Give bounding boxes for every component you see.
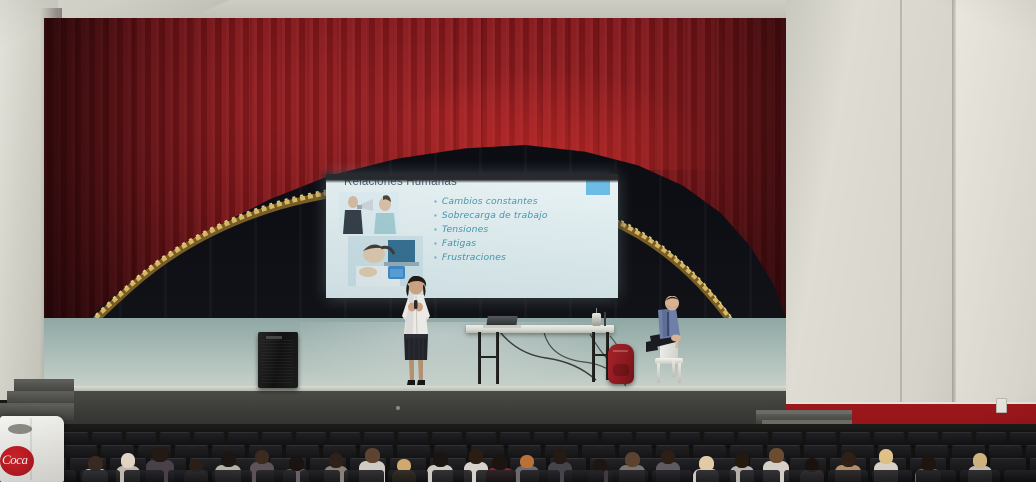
loudspeaker-badge <box>266 336 282 339</box>
seat-highlight <box>126 432 156 433</box>
seat-highlight <box>1026 445 1036 446</box>
theater-seat-front-row <box>124 470 164 482</box>
bullet-marker-icon: ▪ <box>434 196 437 208</box>
slide-bullet-list: ▪Cambios constantes▪Sobrecarga de trabaj… <box>434 196 609 266</box>
seat-highlight <box>398 432 428 433</box>
seat-highlight <box>160 432 190 433</box>
seat-highlight <box>568 432 598 433</box>
seat-highlight <box>874 432 904 433</box>
table-leg-front-left <box>478 332 481 384</box>
seat-highlight <box>360 445 393 446</box>
seat-highlight <box>582 445 615 446</box>
table-brace-left <box>478 356 498 358</box>
theater-seat-front-row <box>1004 470 1036 482</box>
theater-seat-front-row <box>80 470 120 482</box>
seat-highlight <box>286 445 319 446</box>
female-presenter <box>396 276 436 388</box>
seat-highlight <box>636 432 666 433</box>
audience-member-head <box>520 455 534 469</box>
seat-highlight <box>545 445 578 446</box>
seat-highlight <box>841 445 874 446</box>
bullet-marker-icon: ▪ <box>434 210 437 222</box>
microphone-stand <box>604 312 606 326</box>
theater-seat-front-row <box>828 470 868 482</box>
seat-highlight <box>249 445 282 446</box>
seated-man-with-mask <box>646 296 694 366</box>
backpack-strap <box>613 350 628 352</box>
audience-member-head <box>921 456 936 471</box>
table-leg-back-left <box>496 332 499 384</box>
audience-member-head <box>221 452 236 467</box>
bullet-text: Frustraciones <box>442 252 506 263</box>
audience-member-head <box>152 447 168 463</box>
theater-seat-front-row <box>784 470 824 482</box>
theater-seat-front-row <box>608 470 648 482</box>
audience-member-head <box>625 452 640 467</box>
audience-member-head <box>973 453 987 467</box>
bullet-text: Fatigas <box>442 238 476 249</box>
seat-highlight <box>704 432 734 433</box>
seat-highlight <box>806 432 836 433</box>
plastic-bag-handle <box>8 424 32 434</box>
theater-seat-front-row <box>476 470 516 482</box>
slide-bullet-item: ▪Cambios constantes <box>434 196 609 208</box>
seat-highlight <box>432 432 462 433</box>
seat-highlight <box>500 432 530 433</box>
audience-member-head <box>769 448 784 463</box>
theater-seat-front-row <box>872 470 912 482</box>
audience-member-head <box>329 453 343 467</box>
seat-highlight <box>772 432 802 433</box>
audience-member-head <box>433 452 448 467</box>
audience-member-head <box>469 449 483 463</box>
seat-highlight <box>990 458 1026 459</box>
theater-seat-front-row <box>256 470 296 482</box>
audience-member-head <box>735 453 749 467</box>
seat-highlight <box>466 432 496 433</box>
slide-bullet-item: ▪Fatigas <box>434 238 609 250</box>
audience-member-head <box>365 448 380 463</box>
theater-seat-front-row <box>520 470 560 482</box>
laptop-base <box>483 325 521 328</box>
seat-highlight <box>434 445 467 446</box>
seat-highlight <box>397 445 430 446</box>
audience-member-head <box>553 449 567 463</box>
loudspeaker-grill <box>262 340 293 384</box>
seat-highlight <box>915 445 948 446</box>
slide-photo-megaphone <box>339 192 399 234</box>
theater-seat-front-row <box>740 470 780 482</box>
slide-bullet-item: ▪Sobrecarga de trabajo <box>434 210 609 222</box>
desk-device <box>592 313 601 326</box>
theater-seat-front-row <box>300 470 340 482</box>
seat-highlight <box>262 432 292 433</box>
seat-highlight <box>989 445 1022 446</box>
bullet-marker-icon: ▪ <box>434 238 437 250</box>
chair-leg-front-left <box>657 363 660 383</box>
seat-highlight <box>175 445 208 446</box>
chair-leg-front-right <box>678 363 681 383</box>
seat-highlight <box>390 458 426 459</box>
theater-seat-front-row <box>212 470 252 482</box>
audience-member-head <box>255 450 269 464</box>
theater-seat-front-row <box>652 470 692 482</box>
theater-seat-front-row <box>916 470 956 482</box>
seat-highlight <box>693 445 726 446</box>
seat-highlight <box>804 445 837 446</box>
seat-highlight <box>212 445 245 446</box>
seat-highlight <box>738 432 768 433</box>
theater-seat-front-row <box>960 470 1000 482</box>
seat-highlight <box>602 432 632 433</box>
seat-highlight <box>64 445 97 446</box>
seat-highlight <box>908 432 938 433</box>
audience-member-head <box>879 449 893 463</box>
seat-highlight <box>670 432 700 433</box>
audience-member-head <box>492 455 508 471</box>
right-wall-seam-secondary <box>900 0 902 440</box>
stage-floor-marker <box>396 406 400 410</box>
seat-highlight <box>364 432 394 433</box>
seat-highlight <box>878 445 911 446</box>
seat-highlight <box>138 445 171 446</box>
theater-seat-front-row <box>696 470 736 482</box>
audience-member-head <box>289 456 304 471</box>
slide-bullet-item: ▪Frustraciones <box>434 252 609 264</box>
seat-highlight <box>619 445 652 446</box>
audience-member-head <box>121 453 135 467</box>
slide-bullet-item: ▪Tensiones <box>434 224 609 236</box>
bullet-marker-icon: ▪ <box>434 224 437 236</box>
wall-outlet <box>996 398 1007 413</box>
theater-seat-front-row <box>168 470 208 482</box>
seat-highlight <box>228 432 258 433</box>
seat-highlight <box>534 432 564 433</box>
seat-highlight <box>508 445 541 446</box>
seat-highlight <box>296 432 326 433</box>
seat-highlight <box>330 432 360 433</box>
seat-highlight <box>730 445 763 446</box>
audience-member-head <box>661 450 675 464</box>
theater-presentation-scene: Relaciones Humanas <box>0 0 1036 482</box>
table-brace-right <box>592 354 608 356</box>
audience-member-head <box>841 452 856 467</box>
theater-seat-front-row <box>564 470 604 482</box>
slide-title-occlusion <box>326 174 618 183</box>
theater-seat-front-row <box>344 470 384 482</box>
bullet-text: Cambios constantes <box>442 196 538 207</box>
seat-highlight <box>471 445 504 446</box>
seat-highlight <box>1030 458 1036 459</box>
seat-highlight <box>92 432 122 433</box>
seat-highlight <box>1010 432 1036 433</box>
backpack-pocket <box>613 364 629 376</box>
seat-highlight <box>101 445 134 446</box>
table-leg-front-right <box>592 332 595 382</box>
bullet-text: Tensiones <box>442 224 489 235</box>
seat-highlight <box>656 445 689 446</box>
seat-highlight <box>323 445 356 446</box>
theater-seat-front-row <box>432 470 472 482</box>
audience-member-head <box>699 456 714 471</box>
plastic-bag-fold <box>30 418 32 480</box>
bullet-text: Sobrecarga de trabajo <box>442 210 548 221</box>
seat-highlight <box>942 432 972 433</box>
seat-highlight <box>840 432 870 433</box>
bullet-marker-icon: ▪ <box>434 252 437 264</box>
seat-highlight <box>194 432 224 433</box>
projection-screen: Relaciones Humanas <box>326 174 618 298</box>
seat-highlight <box>952 445 985 446</box>
plastic-bag-logo-text: Coca <box>2 452 27 468</box>
seat-highlight <box>976 432 1006 433</box>
seat-highlight <box>767 445 800 446</box>
audience-seating-area <box>0 430 1036 482</box>
theater-seat-front-row <box>388 470 428 482</box>
audience-member-head <box>88 456 103 471</box>
